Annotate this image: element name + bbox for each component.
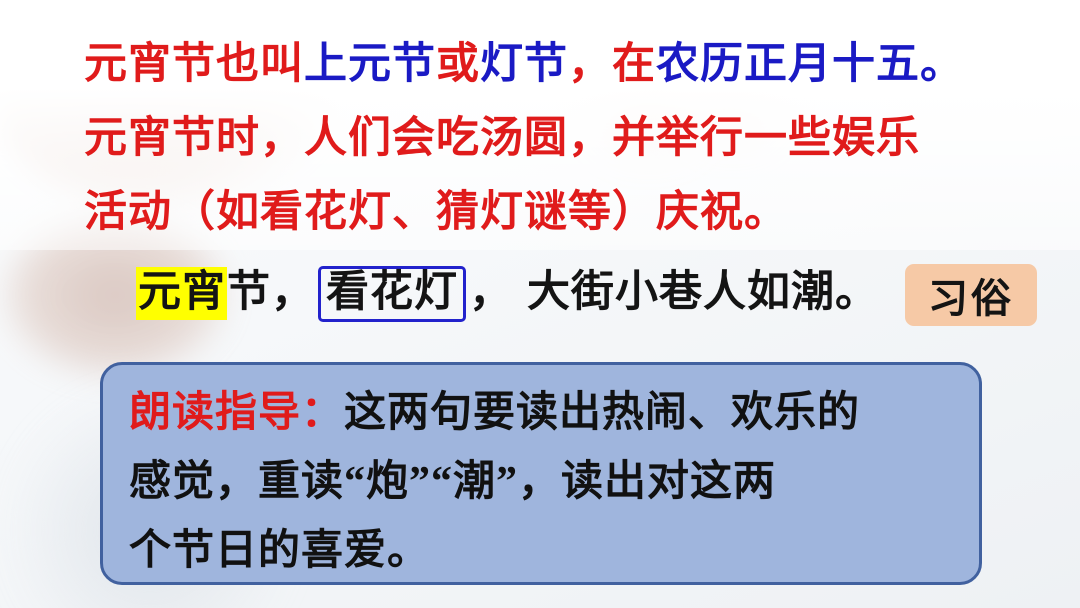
paragraph-line-1: 元宵节也叫上元节或灯节，在农历正月十五。 xyxy=(84,28,1034,102)
panel-line-3: 个节日的喜爱。 xyxy=(129,517,953,585)
slide-canvas: 元宵节也叫上元节或灯节，在农历正月十五。 元宵节时，人们会吃汤圆，并举行一些娱乐… xyxy=(0,0,1080,608)
text-segment: 上元节 xyxy=(304,41,436,88)
boxed-phrase: 看花灯 xyxy=(318,266,466,322)
sentence-text-after-box: ， xyxy=(469,269,513,316)
badge-label: 习俗 xyxy=(928,266,1014,324)
reading-guidance-panel: 朗读指导：这两句要读出热闹、欢乐的 感觉，重读“炮”“潮”，读出对这两 个节日的… xyxy=(100,362,982,585)
text-segment: ， xyxy=(568,41,612,88)
text-segment: 或 xyxy=(436,41,480,88)
panel-text: 感觉，重读“炮”“潮”，读出对这两 xyxy=(129,459,776,505)
paragraph-line-3: 活动（如看花灯、猜灯谜等）庆祝。 xyxy=(84,176,1034,250)
example-sentence: 元宵节，看花灯，大街小巷人如潮。 xyxy=(136,262,879,324)
text-segment: 灯节 xyxy=(480,41,568,88)
text-segment: 元宵节也叫 xyxy=(84,41,304,88)
text-segment: 活动（如看花灯、猜灯谜等）庆祝。 xyxy=(84,189,788,236)
text-segment: 在 xyxy=(612,41,656,88)
intro-paragraph: 元宵节也叫上元节或灯节，在农历正月十五。 元宵节时，人们会吃汤圆，并举行一些娱乐… xyxy=(84,28,1034,250)
sentence-text-after-highlight: 节， xyxy=(227,269,315,316)
panel-line-2: 感觉，重读“炮”“潮”，读出对这两 xyxy=(129,448,953,517)
custom-tag-badge[interactable]: 习俗 xyxy=(905,264,1037,326)
highlighted-word: 元宵 xyxy=(136,267,227,320)
panel-text: 这两句要读出热闹、欢乐的 xyxy=(344,390,860,436)
text-segment: 农历正月十五。 xyxy=(656,41,964,88)
sentence-text-rest: 大街小巷人如潮。 xyxy=(513,269,879,316)
paragraph-line-2: 元宵节时，人们会吃汤圆，并举行一些娱乐 xyxy=(84,102,1034,176)
panel-label: 朗读指导： xyxy=(129,390,344,436)
text-segment: 元宵节时，人们会吃汤圆，并举行一些娱乐 xyxy=(84,115,920,162)
panel-line-1: 朗读指导：这两句要读出热闹、欢乐的 xyxy=(129,379,953,448)
panel-text: 个节日的喜爱。 xyxy=(129,528,430,574)
